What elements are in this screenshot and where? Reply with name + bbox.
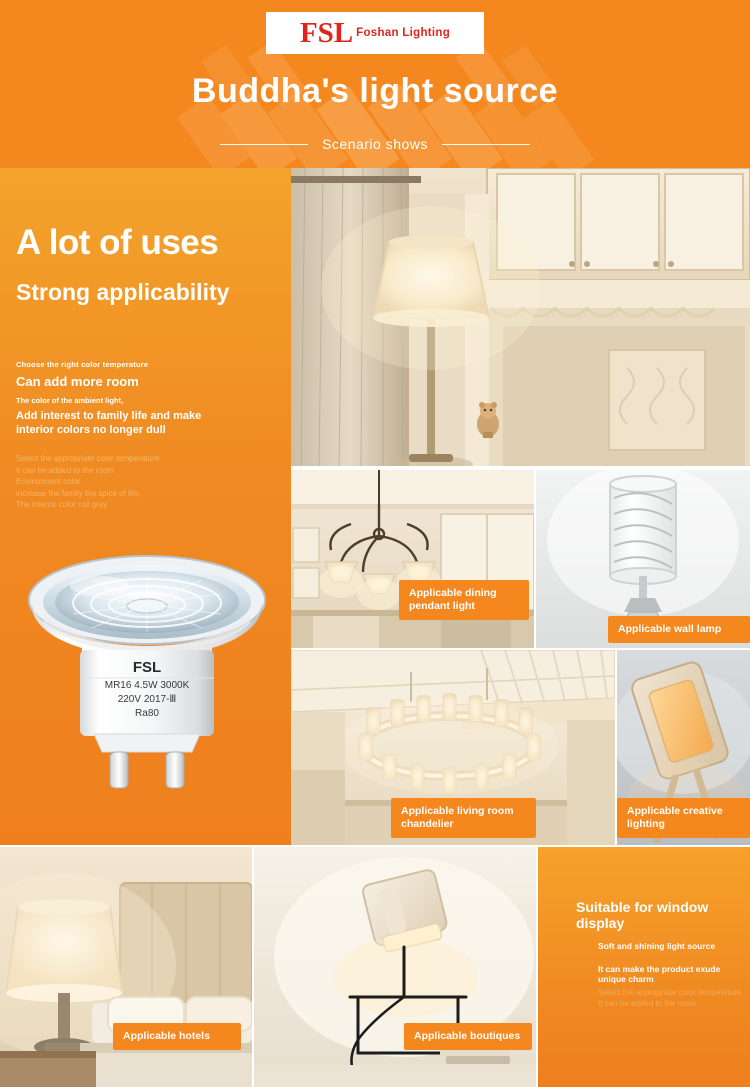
divider-vertical-3 [252,847,254,1087]
caption-creative-lighting: Applicable creative lighting [617,798,750,838]
window-display-faint-text: Select the appropriate color temperature… [598,987,741,1009]
caption-wall-lamp: Applicable wall lamp [608,616,750,643]
left-panel-title: A lot of uses [16,223,218,263]
left-feature-panel: A lot of uses Strong applicability Choos… [0,168,291,845]
divider-horizontal-1 [291,466,750,470]
tile-living-room-chandelier: Applicable living room chandelier [291,650,615,845]
header-subtitle-row: Scenario shows [0,136,750,152]
divider-horizontal-3 [0,845,750,847]
caption-boutiques: Applicable boutiques [404,1023,532,1050]
caption-hotels: Applicable hotels [113,1023,241,1050]
tile-hotels: Applicable hotels [0,847,252,1087]
hotel-room-illustration [0,847,252,1087]
left-panel-subtitle: Strong applicability [16,278,229,306]
left-panel-body-text: Add interest to family life and make int… [16,409,226,437]
rule-left-icon [220,144,308,145]
caption-dining-pendant: Applicable dining pendant light [399,580,529,620]
left-panel-mid-line: Can add more room [16,374,139,389]
divider-vertical-2 [615,650,617,845]
divider-vertical-4 [536,847,538,1087]
divider-vertical-1 [534,470,536,648]
product-bulb-image: FSL MR16 4.5W 3000K 220V 2017-Ⅲ Ra80 [22,528,272,808]
bulb-brand-text: FSL [133,659,161,676]
header-subtitle: Scenario shows [322,136,428,152]
bulb-spec-text: 220V 2017-Ⅲ [118,694,177,705]
room-scene-illustration [291,168,750,468]
page-title: Buddha's light source [0,72,750,111]
bulb-model-text: MR16 4.5W 3000K [105,680,190,691]
tile-boutiques: Applicable boutiques [254,847,536,1087]
tile-room-scene [291,168,750,468]
window-display-panel: Suitable for window display Soft and shi… [538,847,750,1087]
page-root: FSL Foshan Lighting Buddha's light sourc… [0,0,750,1087]
window-display-line-2: It can make the product exude unique cha… [598,964,750,984]
boutique-desk-lamp-illustration [254,847,536,1087]
window-display-line-1: Soft and shining light source [598,941,715,951]
logo-text-foshan-lighting: Foshan Lighting [356,27,450,39]
rule-right-icon [442,144,530,145]
page-header: FSL Foshan Lighting Buddha's light sourc… [0,0,750,168]
tile-dining-pendant: Applicable dining pendant light [291,470,534,648]
divider-horizontal-2 [291,648,750,650]
window-display-title: Suitable for window display [576,899,750,931]
fsl-logo: FSL Foshan Lighting [266,12,484,54]
bulb-cri-text: Ra80 [135,708,159,719]
caption-living-room-chandelier: Applicable living room chandelier [391,798,536,838]
left-panel-tiny-line-1: Choose the right color temperature [16,360,148,369]
left-panel-tiny-line-2: The color of the ambient light, [16,396,123,405]
left-panel-faint-text: Select the appropriate color temperature… [16,453,231,511]
logo-text-fsl: FSL [300,17,353,50]
dining-pendant-illustration [291,470,534,648]
